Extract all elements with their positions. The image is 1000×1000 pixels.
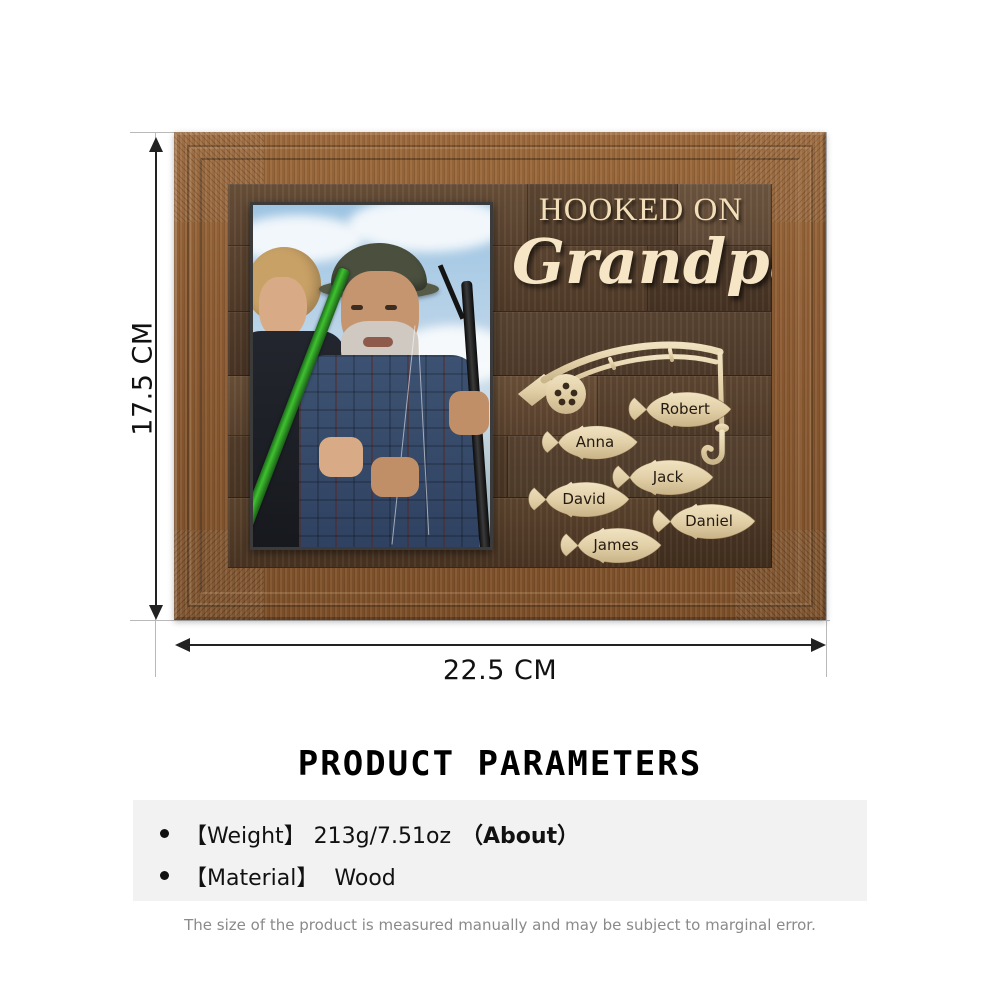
- man-mouth: [363, 337, 393, 347]
- parameter-value: 213g/7.51oz: [314, 824, 451, 849]
- fish-name-label: James: [593, 536, 638, 554]
- wood-plank-panel: HOOKED ON Grandpa: [228, 184, 772, 568]
- product-parameters-box: 【Weight】 213g/7.51oz （About） 【Material】 …: [133, 800, 867, 901]
- man-hand-left: [449, 391, 489, 435]
- parameter-suffix: （About）: [461, 818, 579, 850]
- parameter-row-weight: 【Weight】 213g/7.51oz （About）: [160, 818, 579, 850]
- fish-name-label: Robert: [660, 400, 710, 418]
- parameter-row-material: 【Material】 Wood: [160, 860, 396, 892]
- fish-name-label: Anna: [576, 433, 614, 451]
- parameter-key: 【Weight】: [185, 818, 306, 850]
- plank-segment: [648, 246, 772, 311]
- guide-line-top: [130, 132, 175, 133]
- user-photo: [250, 202, 493, 550]
- parameter-key: 【Material】: [185, 860, 318, 892]
- fish-name-tag: David: [518, 476, 634, 522]
- bullet-icon: [160, 871, 169, 880]
- fish-name-label: Jack: [653, 468, 684, 486]
- parameter-value: Wood: [334, 866, 395, 891]
- width-arrow-right-icon: [811, 638, 826, 652]
- boy-face: [259, 277, 307, 339]
- bullet-icon: [160, 829, 169, 838]
- plank-segment: [678, 184, 772, 245]
- width-dimension-line: [184, 644, 818, 646]
- fish-name-tag: James: [550, 522, 666, 568]
- height-arrow-bottom-icon: [149, 605, 163, 620]
- fish-name-label: David: [562, 490, 605, 508]
- height-arrow-top-icon: [149, 137, 163, 152]
- height-dimension-label: 17.5 CM: [128, 319, 159, 439]
- guide-line-right: [826, 132, 827, 677]
- man-eye-left: [351, 305, 363, 310]
- size-disclaimer: The size of the product is measured manu…: [0, 916, 1000, 934]
- product-parameters-title: PRODUCT PARAMETERS: [0, 744, 1000, 784]
- plank-segment: [528, 184, 678, 245]
- product-listing-page: 17.5 CM 22.5 CM: [0, 0, 1000, 1000]
- man-eye-right: [385, 305, 397, 310]
- width-arrow-left-icon: [175, 638, 190, 652]
- boy-hand: [319, 437, 363, 477]
- fish-name-label: Daniel: [685, 512, 733, 530]
- fish-name-tag-layer: RobertAnnaJackDavidDanielJames: [514, 372, 772, 568]
- picture-frame: HOOKED ON Grandpa: [174, 132, 826, 620]
- width-dimension-label: 22.5 CM: [0, 655, 1000, 686]
- man-hand-right: [371, 457, 419, 497]
- guide-line-bottom: [130, 620, 830, 621]
